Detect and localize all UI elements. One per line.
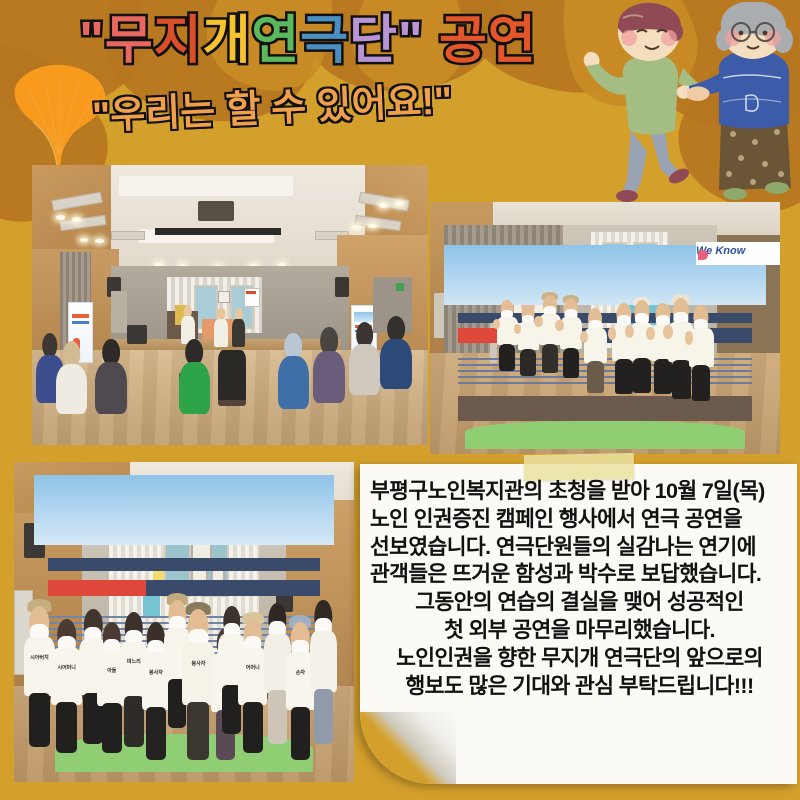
audience-member [56,341,88,414]
tape-strip [524,453,635,481]
photo-performance-hall [32,165,428,445]
audience-member [380,316,412,389]
note-line-2: 선보였습니다. 연극단원들의 실감나는 연기에 [370,534,789,562]
we-know-poster-text: We Know [696,245,780,273]
performer [584,308,607,394]
note-line-5: 첫 외부 공연을 마무리했습니다. [370,617,789,645]
role-label: 시어머니 [57,664,75,671]
role-label: 어머니 [246,664,260,671]
main-title-segment-2: 지 [154,12,203,70]
performer [689,305,714,401]
audience-member [313,327,345,403]
note-text: 부평구노인복지관의 초청을 받아 10월 7일(목)노인 인권증진 캠페인 행사… [370,478,789,701]
role-label: 봉사자 [149,669,163,676]
performer [539,295,562,373]
title-block: "무지개연극단" 공연 "우리는 할 수 있어요!" [0,14,800,132]
actor [214,308,228,347]
main-title-segment-4: 연 [251,12,300,70]
ceiling-projector [198,201,234,221]
note-line-7: 행보도 많은 기대와 관심 부탁드립니다!!! [370,673,789,701]
role-label: 손자 [296,669,305,676]
role-label: 시아버지 [30,654,48,661]
note-line-1: 노인 인권증진 캠페인 행사에서 연극 공연을 [370,506,789,534]
audience-member [179,339,211,415]
photo-stage-caption: 흰 단체복을 입은 단원들이 손뼉을 치며 공연하는 모습 [0,0,1,1]
audience-member [349,322,381,395]
photo-group-caption: 공연을 마친 단원들의 단체 기념사진 [0,0,1,1]
role-label: 봉사자 [192,660,206,667]
main-title-segment-3: 개 [203,12,252,70]
sub-title: "우리는 할 수 있어요!" [91,69,453,140]
photo-group-after-performance: 시아버지 시어머니 아들 며느리 봉사자 봉사자 봉사자 [14,462,354,782]
main-title-segment-7: " [398,12,424,70]
performer [497,300,518,371]
note-line-6: 노인인권을 향한 무지개 연극단의 앞으로의 [370,645,789,673]
main-title-segment-8: 공연 [424,12,537,70]
performer [560,298,583,379]
note-line-4: 그동안의 연습의 결실을 맺어 성공적인 [370,589,789,617]
group-member [310,600,337,744]
main-title: "무지개연극단" 공연 [79,14,537,69]
audience-member [95,339,127,415]
note-line-3: 관객들은 뜨거운 함성과 박수로 보답했습니다. [370,561,789,589]
photo-performers-clapping: We Know [430,202,780,454]
actor [232,308,245,347]
photo-hall-caption: 복지관 강당에서 관객들이 의자에 앉아 연극을 관람하는 모습 [0,0,1,1]
main-title-segment-6: 단 [349,12,398,70]
main-title-segment-1: 무 [105,12,154,70]
poster-canvas: "무지개연극단" 공연 "우리는 할 수 있어요!" [0,0,800,800]
note-line-0: 부평구노인복지관의 초청을 받아 10월 7일(목) [370,478,789,506]
main-title-segment-5: 극 [300,12,349,70]
role-label: 아들 [107,667,116,674]
page-curl [360,712,456,784]
audience-member [278,333,310,409]
group-member: 시어머니 [51,619,82,753]
main-title-segment-0: " [79,12,105,70]
role-label: 며느리 [127,658,141,665]
handwritten-note: 부평구노인복지관의 초청을 받아 10월 7일(목)노인 인권증진 캠페인 행사… [360,464,797,784]
group-member: 봉사자 [182,609,214,759]
group-member: 시아버지 [24,606,55,747]
